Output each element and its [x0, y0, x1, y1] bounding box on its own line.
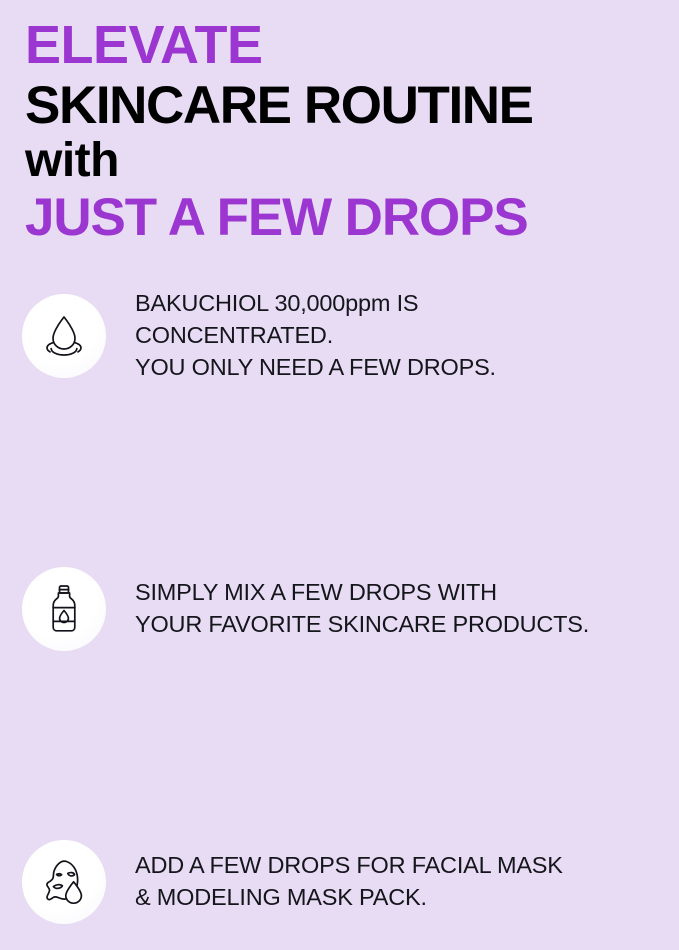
face-sheet-mask-icon	[22, 840, 106, 924]
feature-list: BAKUCHIOL 30,000ppm IS CONCENTRATED. YOU…	[0, 268, 679, 676]
feature-text-mask: ADD A FEW DROPS FOR FACIAL MASK & MODELI…	[135, 850, 675, 914]
headline-line-just-a-few-drops: JUST A FEW DROPS	[25, 191, 659, 244]
headline-line-with: with	[25, 137, 659, 185]
feature-line: YOUR FAVORITE SKINCARE PRODUCTS.	[135, 609, 675, 641]
feature-item-mixing: SIMPLY MIX A FEW DROPS WITH YOUR FAVORIT…	[0, 541, 679, 677]
headline-block: ELEVATE SKINCARE ROUTINE with JUST A FEW…	[25, 18, 659, 244]
feature-line: CONCENTRATED.	[135, 320, 675, 352]
serum-bottle-icon	[22, 567, 106, 651]
feature-line: BAKUCHIOL 30,000ppm IS	[135, 288, 675, 320]
promo-poster: ELEVATE SKINCARE ROUTINE with JUST A FEW…	[0, 0, 679, 679]
headline-line-skincare-routine: SKINCARE ROUTINE	[25, 79, 659, 132]
feature-item-concentration: BAKUCHIOL 30,000ppm IS CONCENTRATED. YOU…	[0, 268, 679, 404]
feature-text-concentration: BAKUCHIOL 30,000ppm IS CONCENTRATED. YOU…	[135, 288, 675, 384]
feature-line: & MODELING MASK PACK.	[135, 882, 675, 914]
feature-text-mixing: SIMPLY MIX A FEW DROPS WITH YOUR FAVORIT…	[135, 577, 675, 641]
water-drop-ripple-icon	[22, 294, 106, 378]
feature-line: SIMPLY MIX A FEW DROPS WITH	[135, 577, 675, 609]
headline-line-elevate: ELEVATE	[25, 18, 659, 72]
feature-line: YOU ONLY NEED A FEW DROPS.	[135, 352, 675, 384]
feature-item-mask: ADD A FEW DROPS FOR FACIAL MASK & MODELI…	[0, 814, 679, 950]
feature-line: ADD A FEW DROPS FOR FACIAL MASK	[135, 850, 675, 882]
